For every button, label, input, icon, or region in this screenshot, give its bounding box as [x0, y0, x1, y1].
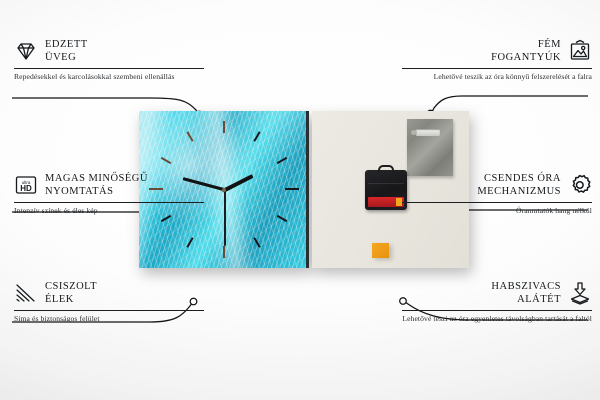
- divider: [14, 202, 204, 203]
- feature-title: FÉM FOGANTYÚK: [491, 38, 561, 64]
- foam-pad: [372, 243, 389, 258]
- feature-title: EDZETT ÜVEG: [45, 38, 88, 64]
- feature-title: HABSZIVACS ALÁTÉT: [491, 280, 561, 306]
- feature-polished-edges: CSISZOLT ÉLEK Sima és biztonságos felüle…: [14, 280, 204, 325]
- feature-title: CSENDES ÓRA MECHANIZMUS: [477, 172, 561, 198]
- feature-subtitle: Repedésekkel és karcolásokkal szembeni e…: [14, 72, 204, 82]
- feature-foam-pad: HABSZIVACS ALÁTÉT Lehetővé teszi az óra …: [402, 280, 592, 325]
- leader-line-hangers: [432, 96, 588, 112]
- feature-metal-hangers: FÉM FOGANTYÚK Lehetővé teszik az óra kön…: [402, 38, 592, 83]
- feature-subtitle: Lehetővé teszi az óra egyenletes távolsá…: [402, 314, 592, 324]
- feature-title: CSISZOLT ÉLEK: [45, 280, 97, 306]
- diamond-icon: [14, 39, 38, 63]
- feature-header: EDZETT ÜVEG: [14, 38, 204, 64]
- quiet-clock-movement: [365, 170, 407, 210]
- divider: [402, 68, 592, 69]
- feature-subtitle: Óramutatók hang nélkül: [402, 206, 592, 216]
- feature-tempered-glass: EDZETT ÜVEG Repedésekkel és karcolásokka…: [14, 38, 204, 83]
- feature-title: MAGAS MINŐSÉGŰ NYOMTATÁS: [45, 172, 148, 198]
- feature-high-quality-print: ultra HD MAGAS MINŐSÉGŰ NYOMTATÁS Intenz…: [14, 172, 204, 217]
- feature-header: CSISZOLT ÉLEK: [14, 280, 204, 306]
- aa-battery: [368, 197, 404, 207]
- clock-second-hand: [224, 190, 226, 246]
- infographic-canvas: EDZETT ÜVEG Repedésekkel és karcolásokka…: [0, 0, 600, 400]
- divider: [402, 310, 592, 311]
- feature-header: CSENDES ÓRA MECHANIZMUS: [402, 172, 592, 198]
- feature-subtitle: Intenzív színek és éles kép: [14, 206, 204, 216]
- metal-hanger-plate: [407, 119, 453, 176]
- feature-subtitle: Lehetővé teszik az óra könnyű felszerelé…: [402, 72, 592, 82]
- clock-center-pin: [222, 188, 226, 192]
- feature-quiet-mechanism: CSENDES ÓRA MECHANIZMUS Óramutatók hang …: [402, 172, 592, 217]
- divider: [14, 310, 204, 311]
- divider: [402, 202, 592, 203]
- clock-tick: [223, 246, 225, 258]
- feature-subtitle: Sima és biztonságos felület: [14, 314, 204, 324]
- polished-edges-icon: [14, 281, 38, 305]
- picture-frame-hanging-icon: [568, 39, 592, 63]
- svg-text:HD: HD: [20, 184, 32, 193]
- hanger-keyhole-slot: [416, 129, 440, 136]
- movement-seam: [368, 183, 404, 184]
- movement-hanger-loop: [378, 165, 394, 173]
- clock-tick: [285, 188, 299, 190]
- clock-tick: [223, 121, 225, 133]
- feature-header: ultra HD MAGAS MINŐSÉGŰ NYOMTATÁS: [14, 172, 204, 198]
- foam-pad-arrow-icon: [568, 281, 592, 305]
- feature-header: FÉM FOGANTYÚK: [402, 38, 592, 64]
- feature-header: HABSZIVACS ALÁTÉT: [402, 280, 592, 306]
- gear-icon: [568, 173, 592, 197]
- divider: [14, 68, 204, 69]
- ultra-hd-icon: ultra HD: [14, 173, 38, 197]
